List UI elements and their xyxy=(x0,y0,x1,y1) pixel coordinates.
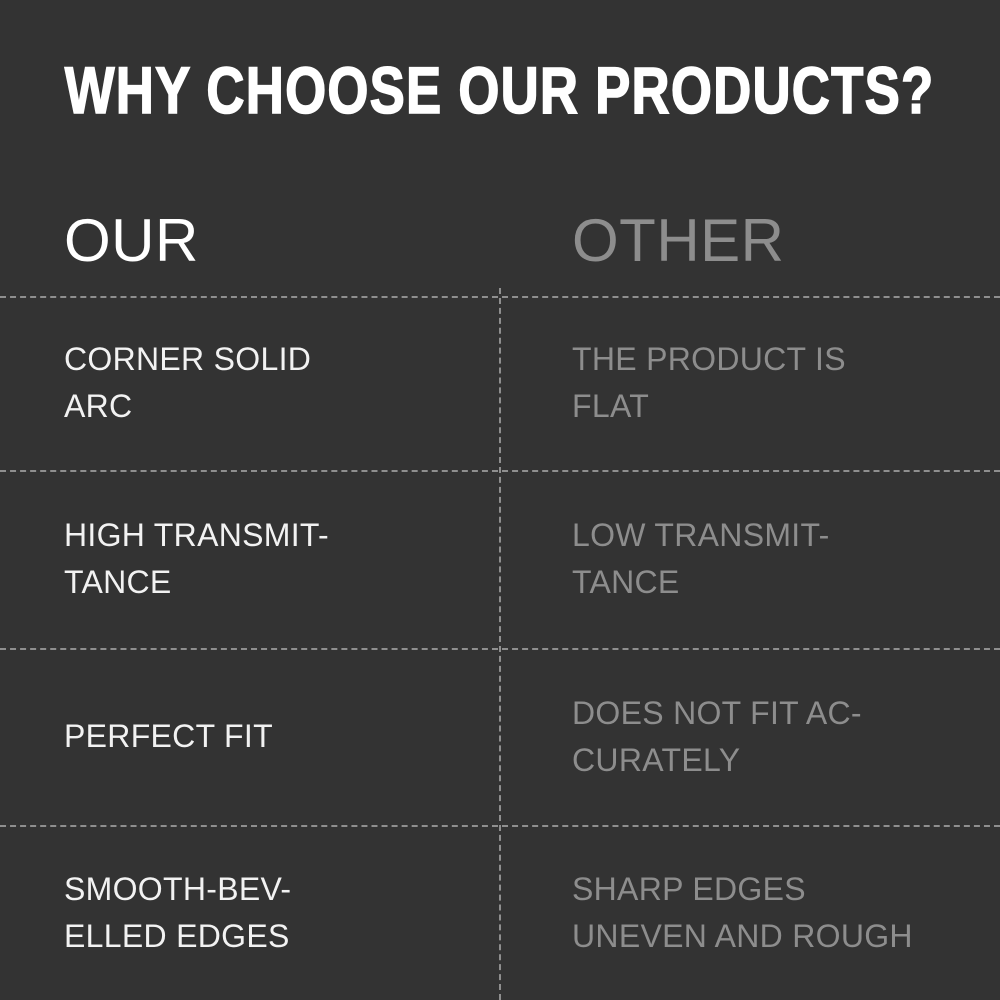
cell-theirs: SHARP EDGES UNEVEN AND ROUGH xyxy=(499,825,1000,1000)
feature-theirs: DOES NOT FIT AC- CURATELY xyxy=(572,690,976,784)
table-header-row: OUR OTHER xyxy=(0,180,1000,296)
comparison-table: OUR OTHER CORNER SOLID ARC THE PRODUCT I… xyxy=(0,180,1000,1000)
feature-ours: HIGH TRANSMIT- TANCE xyxy=(64,512,475,606)
cell-ours: SMOOTH-BEV- ELLED EDGES xyxy=(0,825,499,1000)
page-title: WHY CHOOSE OUR PRODUCTS? xyxy=(65,57,935,123)
table-row: SMOOTH-BEV- ELLED EDGES SHARP EDGES UNEV… xyxy=(0,825,1000,1000)
table-row: PERFECT FIT DOES NOT FIT AC- CURATELY xyxy=(0,648,1000,825)
cell-theirs: THE PRODUCT IS FLAT xyxy=(499,296,1000,470)
cell-theirs: DOES NOT FIT AC- CURATELY xyxy=(499,648,1000,825)
header-cell-theirs: OTHER xyxy=(499,180,1000,296)
cell-ours: PERFECT FIT xyxy=(0,648,499,825)
feature-ours: PERFECT FIT xyxy=(64,713,475,760)
column-header-ours: OUR xyxy=(64,211,475,271)
feature-theirs: THE PRODUCT IS FLAT xyxy=(572,336,976,430)
feature-ours: SMOOTH-BEV- ELLED EDGES xyxy=(64,866,475,960)
header-cell-ours: OUR xyxy=(0,180,499,296)
column-header-theirs: OTHER xyxy=(572,211,976,271)
feature-theirs: SHARP EDGES UNEVEN AND ROUGH xyxy=(572,866,976,960)
table-row: HIGH TRANSMIT- TANCE LOW TRANSMIT- TANCE xyxy=(0,470,1000,648)
comparison-poster: WHY CHOOSE OUR PRODUCTS? OUR OTHER CORNE… xyxy=(0,0,1000,1000)
cell-ours: CORNER SOLID ARC xyxy=(0,296,499,470)
feature-theirs: LOW TRANSMIT- TANCE xyxy=(572,512,976,606)
cell-theirs: LOW TRANSMIT- TANCE xyxy=(499,470,1000,648)
table-row: CORNER SOLID ARC THE PRODUCT IS FLAT xyxy=(0,296,1000,470)
cell-ours: HIGH TRANSMIT- TANCE xyxy=(0,470,499,648)
poster-title-area: WHY CHOOSE OUR PRODUCTS? xyxy=(0,0,1000,180)
feature-ours: CORNER SOLID ARC xyxy=(64,336,475,430)
